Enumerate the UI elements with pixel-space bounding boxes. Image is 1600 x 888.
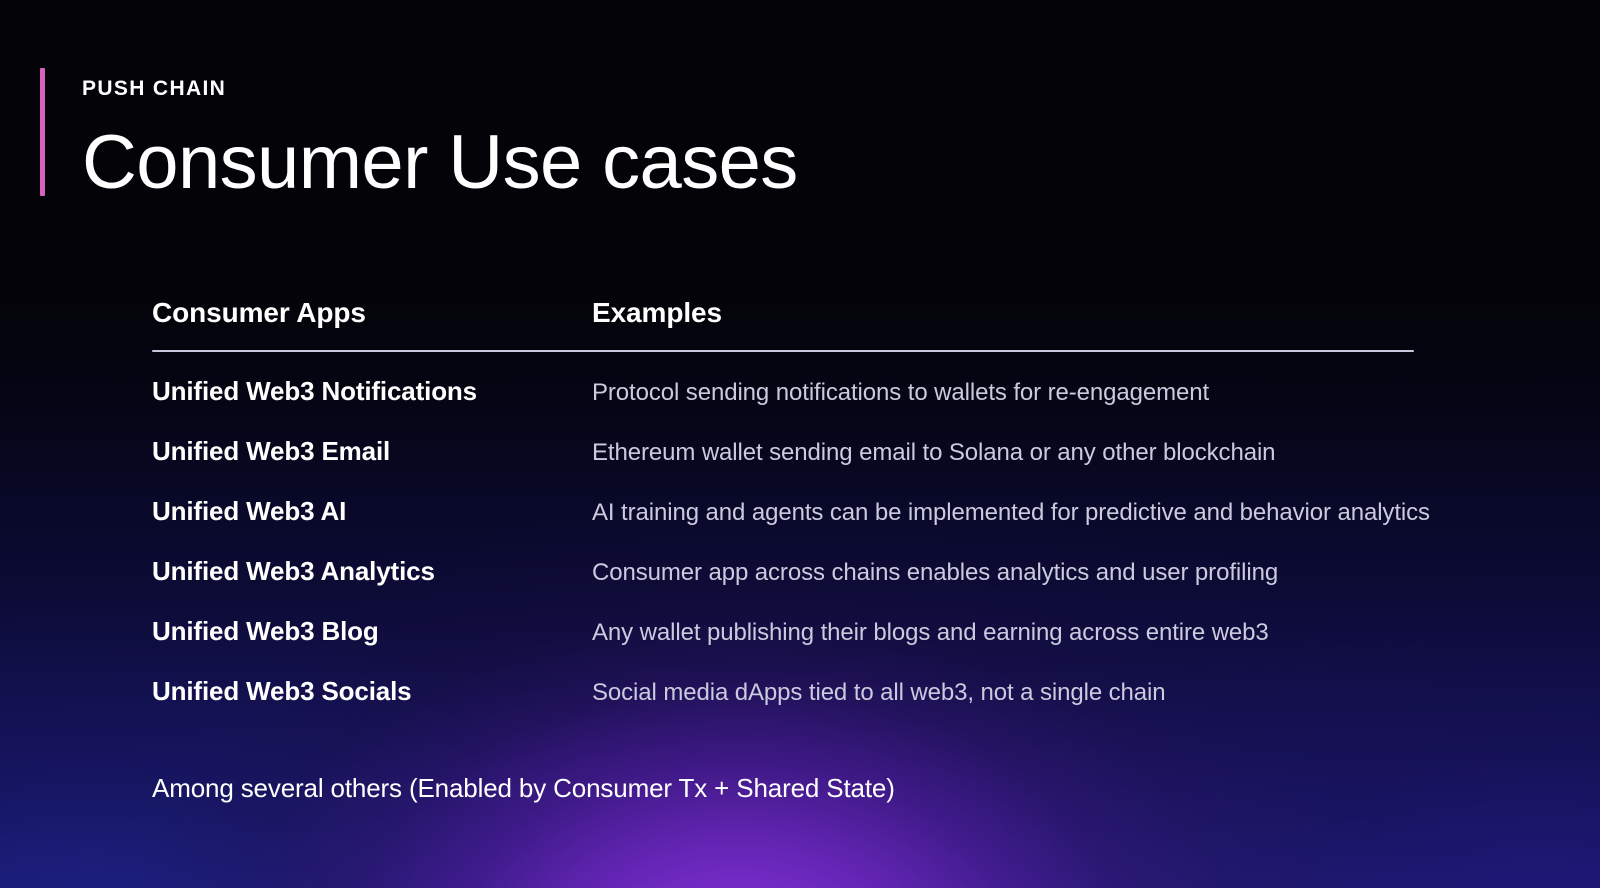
accent-bar <box>40 68 45 196</box>
cell-example: Social media dApps tied to all web3, not… <box>592 681 1432 705</box>
brand-eyebrow: PUSH CHAIN <box>82 68 798 99</box>
slide-canvas: PUSH CHAIN Consumer Use cases Consumer A… <box>0 0 1600 888</box>
cell-consumer-app: Unified Web3 Socials <box>152 678 592 704</box>
cell-consumer-app: Unified Web3 Notifications <box>152 378 592 404</box>
table-header-row: Consumer Apps Examples <box>152 281 1432 327</box>
slide-content: PUSH CHAIN Consumer Use cases Consumer A… <box>0 0 1600 888</box>
cell-example: Any wallet publishing their blogs and ea… <box>592 621 1432 645</box>
column-header-consumer-apps: Consumer Apps <box>152 299 592 327</box>
table-row: Unified Web3 Blog Any wallet publishing … <box>152 618 1432 678</box>
use-cases-table: Consumer Apps Examples Unified Web3 Noti… <box>152 281 1432 738</box>
cell-example: Consumer app across chains enables analy… <box>592 561 1432 585</box>
table-row: Unified Web3 Notifications Protocol send… <box>152 378 1432 438</box>
column-header-examples: Examples <box>592 299 1432 327</box>
header-divider <box>152 350 1414 352</box>
page-title: Consumer Use cases <box>82 125 798 201</box>
header-text-group: PUSH CHAIN Consumer Use cases <box>82 68 798 201</box>
cell-example: Protocol sending notifications to wallet… <box>592 381 1432 405</box>
table-row: Unified Web3 AI AI training and agents c… <box>152 498 1432 558</box>
table-row: Unified Web3 Email Ethereum wallet sendi… <box>152 438 1432 498</box>
table-row: Unified Web3 Socials Social media dApps … <box>152 678 1432 738</box>
cell-example: AI training and agents can be implemente… <box>592 501 1432 525</box>
cell-consumer-app: Unified Web3 Blog <box>152 618 592 644</box>
footnote-text: Among several others (Enabled by Consume… <box>152 775 895 801</box>
slide-header: PUSH CHAIN Consumer Use cases <box>40 68 798 201</box>
cell-consumer-app: Unified Web3 Analytics <box>152 558 592 584</box>
table-row: Unified Web3 Analytics Consumer app acro… <box>152 558 1432 618</box>
cell-consumer-app: Unified Web3 AI <box>152 498 592 524</box>
table-body: Unified Web3 Notifications Protocol send… <box>152 378 1432 738</box>
cell-consumer-app: Unified Web3 Email <box>152 438 592 464</box>
cell-example: Ethereum wallet sending email to Solana … <box>592 441 1432 465</box>
